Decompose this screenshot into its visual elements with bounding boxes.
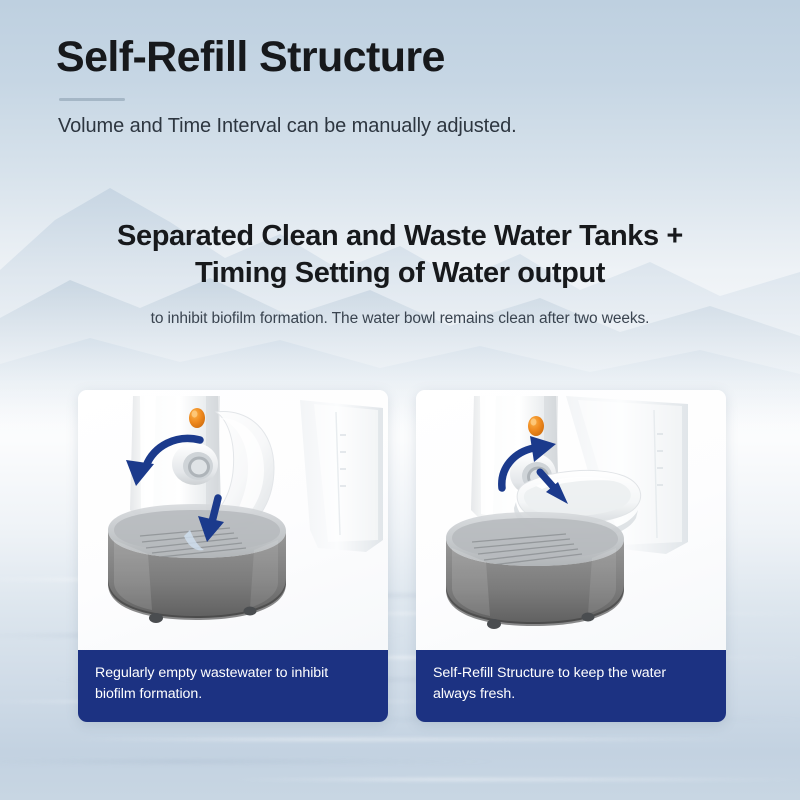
feature-cards: Regularly empty wastewater to inhibit bi… (78, 390, 726, 722)
feature-heading-block: Separated Clean and Waste Water Tanks + … (0, 218, 800, 328)
waste-water-card: Regularly empty wastewater to inhibit bi… (78, 390, 388, 722)
card-caption: Self-Refill Structure to keep the water … (416, 650, 726, 722)
self-refill-card: Self-Refill Structure to keep the water … (416, 390, 726, 722)
feature-heading-line-1: Separated Clean and Waste Water Tanks + (70, 218, 730, 255)
card-caption: Regularly empty wastewater to inhibit bi… (78, 650, 388, 722)
feature-description: to inhibit biofilm formation. The water … (0, 310, 800, 328)
page-subtitle: Volume and Time Interval can be manually… (58, 115, 756, 138)
feature-heading-line-2: Timing Setting of Water output (70, 255, 730, 292)
feature-heading: Separated Clean and Waste Water Tanks + … (70, 218, 730, 292)
page-header: Self-Refill Structure Volume and Time In… (56, 34, 756, 138)
page-title: Self-Refill Structure (56, 34, 756, 81)
pet-fountain-bowl-tilted-illustration (78, 390, 388, 650)
title-divider (59, 98, 125, 101)
product-feature-page: Self-Refill Structure Volume and Time In… (0, 0, 800, 800)
pet-fountain-bowl-upright-illustration (416, 390, 726, 650)
